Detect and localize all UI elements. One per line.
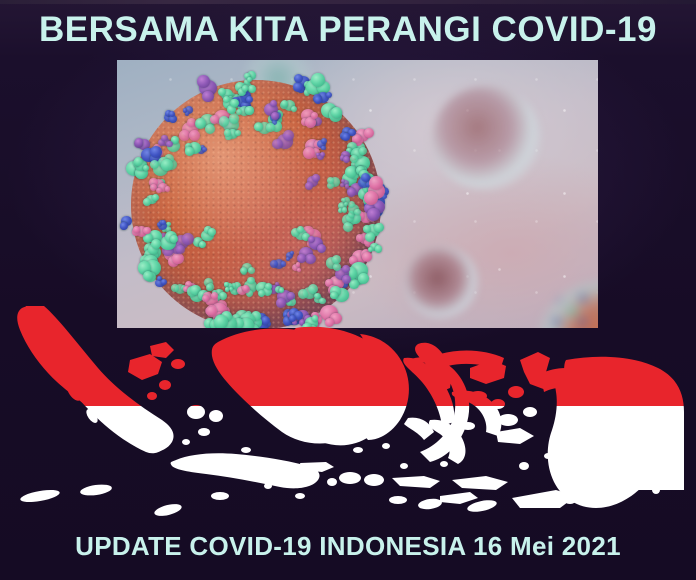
virus-spike-lobe xyxy=(197,75,209,87)
virus-icon xyxy=(117,60,407,328)
virus-spike-lobe xyxy=(165,186,171,192)
virus-spike-lobe xyxy=(294,74,303,83)
virus-spike-lobe xyxy=(368,247,373,252)
virus-spike-lobe xyxy=(245,106,254,115)
virus-spike-lobe xyxy=(316,153,320,157)
virus-spike-lobe xyxy=(312,174,320,182)
virus-spike-lobe xyxy=(293,82,303,92)
virus-spike-lobe xyxy=(170,235,178,243)
virus-spike-lobe xyxy=(270,100,277,107)
virus-spike-lobe xyxy=(172,253,184,265)
indonesia-flag-fill xyxy=(0,300,696,545)
virus-spike-lobe xyxy=(296,262,301,267)
virus-spike-lobe xyxy=(356,234,363,241)
indonesia-map-svg xyxy=(0,300,696,545)
virus-spike-lobe xyxy=(223,96,230,103)
virus-spike-lobe xyxy=(166,141,172,147)
virus-spike-lobe xyxy=(270,260,278,268)
page-title: BERSAMA KITA PERANGI COVID-19 xyxy=(0,12,696,49)
virus-spike-lobe xyxy=(182,233,194,245)
virus-spike-lobe xyxy=(219,292,227,300)
virus-spike-lobe xyxy=(345,184,349,188)
virus-spike-lobe xyxy=(281,100,288,107)
virus-spike-lobe xyxy=(171,284,179,292)
virus-spike-lobe xyxy=(120,222,128,230)
virus-spike-lobe xyxy=(281,261,286,266)
virus-spike-lobe xyxy=(305,182,313,190)
virus-spike-lobe xyxy=(342,207,347,212)
virus-spike-lobe xyxy=(265,283,272,290)
virus-spike-lobe xyxy=(254,123,262,131)
virus-spike-lobe xyxy=(369,176,383,190)
virus-spike-lobe xyxy=(303,147,315,159)
virus-spike-lobe xyxy=(143,165,149,171)
virus-spike-lobe xyxy=(363,225,371,233)
virus-spike-lobe xyxy=(298,289,308,299)
virus-spike-lobe xyxy=(150,160,159,169)
virus-spike-lobe xyxy=(266,123,274,131)
virus-spike-lobe xyxy=(321,138,327,144)
virus-spike-lobe xyxy=(343,156,350,163)
virus-spike-lobe xyxy=(321,146,326,151)
virus-spike-lobe xyxy=(342,265,350,273)
virus-spike-lobe xyxy=(332,255,341,264)
virus-spike-lobe xyxy=(341,198,345,202)
virus-spike-lobe xyxy=(327,177,334,184)
virus-spike-lobe xyxy=(279,288,284,293)
virus-spike-lobe xyxy=(150,146,162,158)
virus-spike-lobe xyxy=(326,92,332,98)
virus-spike-lobe xyxy=(364,128,374,138)
virus-spike-lobe xyxy=(219,116,229,126)
virus-spike-lobe xyxy=(340,183,344,187)
virus-spike-lobe xyxy=(225,287,230,292)
virus-spike-lobe xyxy=(230,99,239,108)
footer-caption: UPDATE COVID-19 INDONESIA 16 Mei 2021 xyxy=(0,531,696,562)
virus-spike-lobe xyxy=(242,285,249,292)
virus-spike-lobe xyxy=(224,282,228,286)
virus-spike-lobe xyxy=(374,223,384,233)
virus-spike-lobe xyxy=(311,112,318,119)
virus-spike-lobe xyxy=(161,220,166,225)
virus-spike-lobe xyxy=(314,293,320,299)
virus-spike-lobe xyxy=(161,159,173,171)
virus-spike-lobe xyxy=(143,198,151,206)
virus-spike-lobe xyxy=(345,166,357,178)
virus-spike-lobe xyxy=(311,73,325,87)
virus-spike-lobe xyxy=(208,228,216,236)
virus-spike-lobe xyxy=(364,191,378,205)
virus-photo xyxy=(117,60,598,328)
indonesia-map-icon xyxy=(0,300,696,545)
virus-spike-lobe xyxy=(358,273,369,284)
virus-spike-lobe xyxy=(375,245,382,252)
virus-spike-lobe xyxy=(297,268,301,272)
virus-spike-lobe xyxy=(143,227,150,234)
virus-spike-lobe xyxy=(206,284,213,291)
virus-spike-lobe xyxy=(202,147,207,152)
virus-particle-blurred-upper-right xyxy=(432,86,540,190)
virus-spike-lobe xyxy=(362,252,372,262)
virus-spike-lobe xyxy=(211,292,218,299)
virus-spike-lobe xyxy=(342,133,349,140)
virus-spike-lobe xyxy=(367,208,380,221)
virus-spike-lobe xyxy=(320,152,325,157)
virus-spike-lobe xyxy=(205,124,215,134)
virus-spike-lobe xyxy=(235,130,241,136)
virus-spike-lobe xyxy=(248,267,255,274)
virus-spike-lobe xyxy=(305,254,315,264)
virus-spike-lobe xyxy=(185,147,193,155)
virus-spike-lobe xyxy=(283,130,294,141)
virus-spike-lobe xyxy=(272,139,282,149)
top-accent-strip xyxy=(0,0,696,4)
covid-update-poster: BERSAMA KITA PERANGI COVID-19 xyxy=(0,0,696,580)
virus-spike-lobe xyxy=(258,290,265,297)
virus-spike-lobe xyxy=(297,226,304,233)
virus-spike-lobe xyxy=(365,232,375,242)
virus-spike-lobe xyxy=(156,188,161,193)
